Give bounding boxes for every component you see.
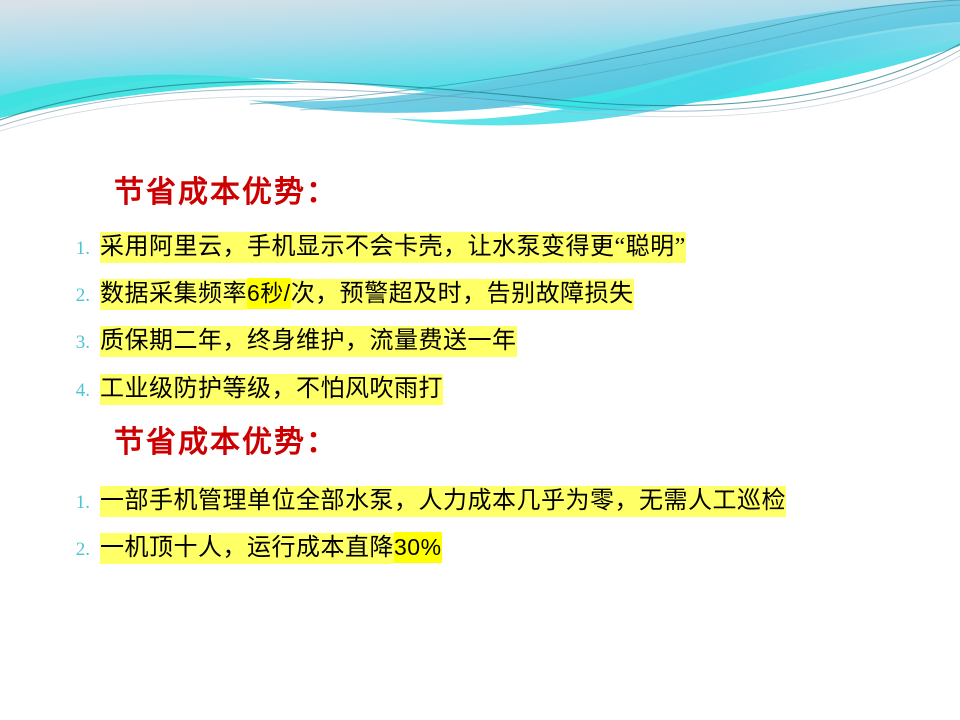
list-item-text-part: 数据采集频率 — [100, 279, 247, 310]
slide-canvas: 节省成本优势： 1. 采用阿里云，手机显示不会卡壳，让水泵变得更“聪明” 2. … — [0, 0, 960, 720]
list-item-text-part: 工业级防护等级，不怕风吹雨打 — [100, 374, 443, 405]
list-marker: 1. — [46, 493, 100, 512]
slide-content: 节省成本优势： 1. 采用阿里云，手机显示不会卡壳，让水泵变得更“聪明” 2. … — [0, 0, 960, 720]
list-item: 2. 数据采集频率6秒/次，预警超及时，告别故障损失 — [46, 282, 634, 306]
list-marker: 1. — [46, 239, 100, 258]
list-item-text: 质保期二年，终身维护，流量费送一年 — [100, 329, 517, 353]
list-item-text-part: 质保期二年，终身维护，流量费送一年 — [100, 326, 517, 357]
list-item-text-part-emphasis: 6秒/ — [247, 278, 291, 309]
list-item: 3. 质保期二年，终身维护，流量费送一年 — [46, 329, 517, 353]
list-item-text: 采用阿里云，手机显示不会卡壳，让水泵变得更“聪明” — [100, 235, 686, 259]
list-item-text-part: 一机顶十人，运行成本直降 — [100, 533, 394, 564]
list-marker: 2. — [46, 286, 100, 305]
list-item-text-part: 次，预警超及时，告别故障损失 — [291, 279, 634, 310]
list-marker: 4. — [46, 381, 100, 400]
list-item-text: 一部手机管理单位全部水泵，人力成本几乎为零，无需人工巡检 — [100, 489, 786, 513]
list-marker: 3. — [46, 333, 100, 352]
list-marker: 2. — [46, 540, 100, 559]
list-item-text: 工业级防护等级，不怕风吹雨打 — [100, 377, 443, 401]
list-item-text: 数据采集频率6秒/次，预警超及时，告别故障损失 — [100, 282, 634, 306]
section-heading-1: 节省成本优势： — [114, 178, 338, 208]
list-item-text-part: 采用阿里云，手机显示不会卡壳，让水泵变得更“聪明” — [100, 232, 686, 263]
list-item-text: 一机顶十人，运行成本直降30% — [100, 536, 442, 560]
list-item-text-part: 一部手机管理单位全部水泵，人力成本几乎为零，无需人工巡检 — [100, 486, 786, 517]
list-item: 1. 一部手机管理单位全部水泵，人力成本几乎为零，无需人工巡检 — [46, 489, 786, 513]
list-item: 2. 一机顶十人，运行成本直降30% — [46, 536, 442, 560]
list-item: 1. 采用阿里云，手机显示不会卡壳，让水泵变得更“聪明” — [46, 235, 686, 259]
section-heading-2: 节省成本优势： — [114, 428, 338, 458]
list-item: 4. 工业级防护等级，不怕风吹雨打 — [46, 377, 443, 401]
list-item-text-part-emphasis: 30% — [394, 532, 442, 563]
